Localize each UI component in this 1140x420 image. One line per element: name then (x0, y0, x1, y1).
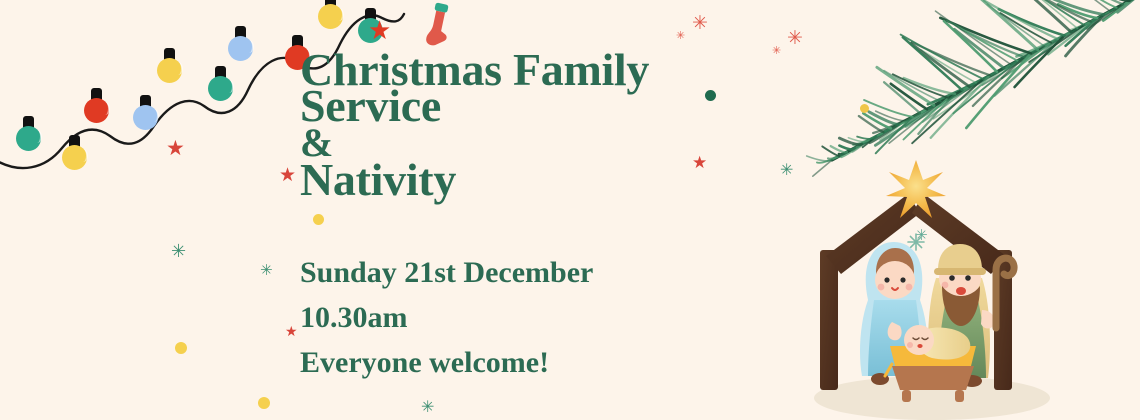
event-invitation: Everyone welcome! (300, 340, 770, 385)
bulb-glass (133, 105, 158, 130)
snowflake-green-icon: ✳ (171, 243, 186, 261)
red-star-on-bulb-icon: ★ (368, 18, 391, 44)
sparkle-red-icon: ✳ (676, 30, 685, 41)
dot-yellow-icon (860, 104, 869, 113)
bulb-cap (365, 8, 376, 21)
bulb-glass (208, 76, 233, 101)
bulb-cap (140, 95, 151, 108)
bulb-cap (69, 135, 80, 148)
event-time: 10.30am (300, 295, 770, 340)
bulb-cap (215, 66, 226, 79)
bulb-glass (84, 98, 109, 123)
star-red-icon: ★ (285, 325, 298, 339)
bulb-shine (100, 102, 110, 115)
bulb-cap (23, 116, 34, 129)
snowflake-green-icon: ✳ (780, 162, 793, 178)
star-red-icon: ★ (166, 138, 185, 159)
sparkle-red-icon: ✳ (787, 29, 803, 48)
event-details: Sunday 21st December 10.30am Everyone we… (300, 250, 770, 385)
bulb-shine (32, 130, 42, 143)
star-red-icon: ★ (279, 166, 296, 185)
stable-snowflake-icon (908, 234, 924, 250)
snowflake-green-icon: ✳ (260, 263, 273, 278)
bulb-shine (334, 8, 344, 21)
bulb-glass (228, 36, 253, 61)
page-title: Christmas Family Service & Nativity (300, 52, 770, 198)
sparkle-red-icon: ✳ (692, 14, 708, 33)
headline-line-4: Nativity (300, 162, 770, 198)
sparkle-red-icon: ✳ (772, 45, 781, 56)
bulb-shine (244, 40, 254, 53)
bulb-cap (235, 26, 246, 39)
bulb-shine (149, 109, 159, 122)
dot-yellow-icon (175, 342, 187, 354)
dot-yellow-icon (258, 397, 270, 409)
dot-yellow-icon (313, 214, 324, 225)
bulb-glass (157, 58, 182, 83)
bulb-cap (325, 0, 336, 7)
nativity-scene (800, 150, 1065, 420)
bulb-shine (173, 62, 183, 75)
christmas-banner: ★ ✳✳✳✳★✳★★✳✳★✳✳ Christmas Family Service… (0, 0, 1140, 420)
bulb-shine (78, 149, 88, 162)
bulb-cap (164, 48, 175, 61)
bulb-cap (91, 88, 102, 101)
bulb-glass (358, 18, 383, 43)
bulb-glass (62, 145, 87, 170)
bulb-shine (374, 22, 384, 35)
event-date: Sunday 21st December (300, 250, 770, 295)
bulb-shine (224, 80, 234, 93)
bulb-glass (318, 4, 343, 29)
bulb-glass (16, 126, 41, 151)
snowflake-green-icon: ✳ (421, 399, 434, 415)
